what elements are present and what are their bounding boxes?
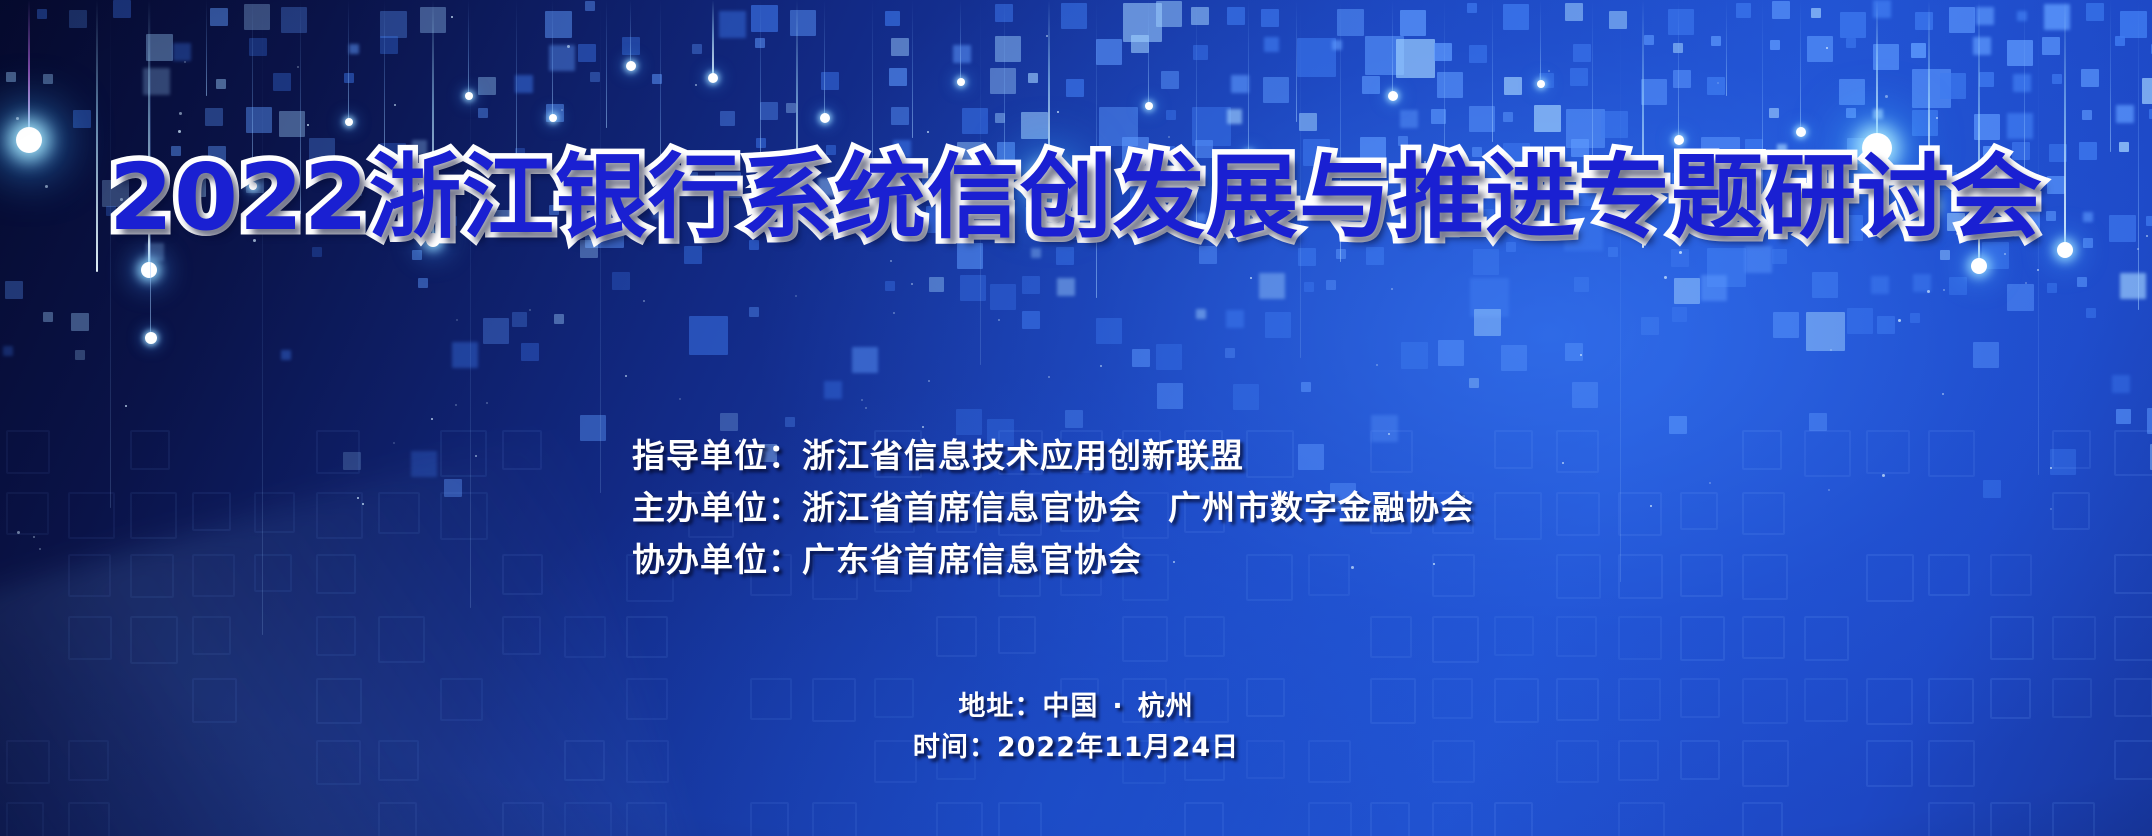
organizer-value: 广东省首席信息官协会 — [802, 540, 1142, 579]
meta-label: 时间： — [913, 732, 997, 763]
organizer-value: 浙江省信息技术应用创新联盟 — [802, 436, 1244, 475]
organizer-value: 浙江省首席信息官协会 — [802, 488, 1142, 527]
organizer-label: 指导单位： — [632, 436, 802, 475]
organizer-list: 指导单位：浙江省信息技术应用创新联盟 主办单位：浙江省首席信息官协会广州市数字金… — [632, 430, 1474, 586]
meta-value-secondary: 杭州 — [1138, 691, 1194, 722]
meta-separator: · — [1112, 691, 1123, 722]
organizer-line-host: 主办单位：浙江省首席信息官协会广州市数字金融协会 — [632, 482, 1474, 534]
organizer-value-secondary: 广州市数字金融协会 — [1168, 488, 1474, 527]
organizer-label: 协办单位： — [632, 540, 802, 579]
poster-banner: 2022浙江银行系统信创发展与推进专题研讨会 指导单位：浙江省信息技术应用创新联… — [0, 0, 2152, 836]
meta-value: 2022年11月24日 — [997, 732, 1239, 763]
meta-label: 地址： — [958, 691, 1042, 722]
event-meta: 地址：中国·杭州 时间：2022年11月24日 — [0, 686, 2152, 768]
meta-value: 中国 — [1042, 691, 1098, 722]
organizer-label: 主办单位： — [632, 488, 802, 527]
page-title: 2022浙江银行系统信创发展与推进专题研讨会 — [0, 150, 2152, 247]
organizer-line-cohost: 协办单位：广东省首席信息官协会 — [632, 534, 1474, 586]
meta-line-date: 时间：2022年11月24日 — [0, 727, 2152, 768]
meta-line-address: 地址：中国·杭州 — [0, 686, 2152, 727]
organizer-line-guidance: 指导单位：浙江省信息技术应用创新联盟 — [632, 430, 1474, 482]
